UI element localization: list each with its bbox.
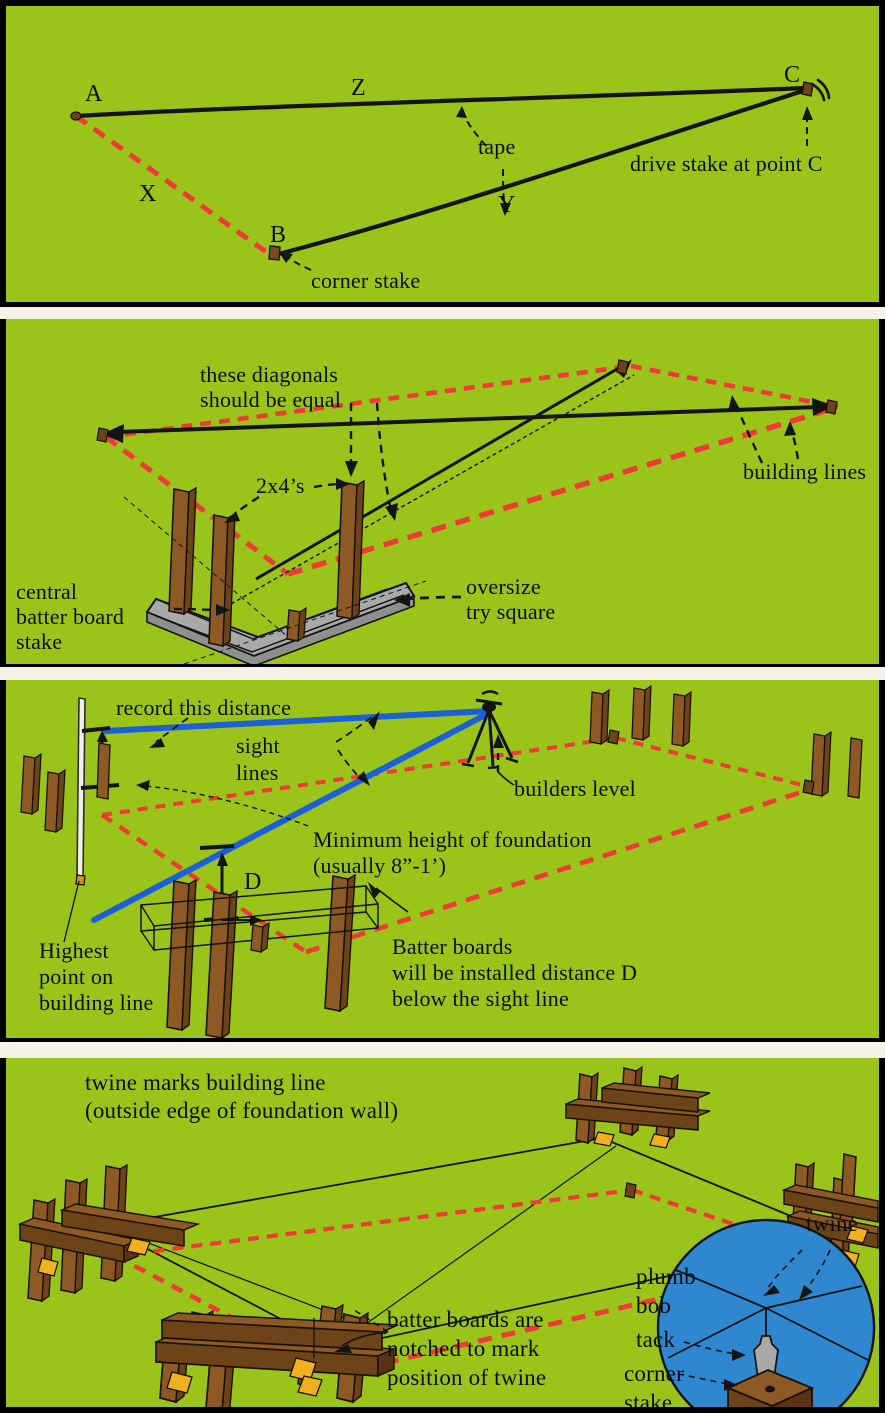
sight-line-lower: [94, 713, 489, 920]
d-tick-top: [200, 846, 234, 848]
panel-diagonals: these diagonals should be equal 2x4’s bu…: [6, 319, 879, 664]
building-line-rect-top: [106, 366, 631, 437]
label-try-square-line1: oversize: [466, 574, 541, 600]
leader-record-distance-arrow: [149, 738, 165, 748]
corner-stake-ne: [625, 1183, 636, 1198]
label-try-square-line2: try square: [466, 599, 555, 625]
leader-building-lines-1-arrow: [728, 395, 740, 411]
label-notched-line2: notched to mark: [387, 1335, 539, 1362]
leader-building-lines-1: [736, 405, 762, 463]
panel-2-artwork: [6, 319, 879, 664]
label-point-c: C: [784, 61, 800, 89]
label-batter-line1: Batter boards: [392, 934, 513, 960]
label-detail-corner-line1: corner: [624, 1360, 684, 1387]
label-notched-line1: batter boards are: [387, 1306, 544, 1333]
twine-line-top: [104, 1138, 602, 1226]
diagram-sheet: A B C X Y Z tape drive stake at point C …: [0, 0, 885, 1413]
label-central-line2: batter board: [16, 604, 124, 630]
label-diagonals-line2: should be equal: [200, 387, 341, 413]
label-highest-line2: point on: [39, 964, 113, 990]
corner-stake-right: [826, 400, 837, 414]
label-central-line1: central: [16, 579, 77, 605]
label-central-line3: stake: [16, 629, 62, 655]
batter-board-corner-bottom: [156, 1305, 398, 1407]
label-highest-line1: Highest: [39, 938, 109, 964]
leader-diagonals-2-arrow: [385, 503, 398, 521]
leader-building-lines-2-arrow: [784, 421, 796, 436]
label-tape: tape: [478, 134, 515, 160]
leader-diagonals-1-arrow: [345, 461, 358, 477]
two-by-four-post-1: [169, 488, 196, 614]
building-line-rect-bottom: [288, 407, 838, 574]
label-record-distance: record this distance: [116, 695, 291, 721]
highest-point-leader: [64, 881, 79, 942]
leader-batter-boards: [376, 888, 408, 912]
building-line-left-bottom: [102, 815, 306, 952]
label-diagonals-line1: these diagonals: [200, 362, 338, 388]
stake-a: [71, 112, 81, 120]
panel-gap-2: [0, 667, 885, 680]
leader-tape-up-arrow: [456, 106, 467, 118]
corner-stake-top: [617, 360, 628, 374]
panel-gap-3: [0, 1042, 885, 1058]
batter-board-corner-left: [20, 1165, 198, 1301]
leader-diagonals-2: [377, 403, 391, 511]
label-point-b: B: [270, 221, 286, 249]
label-side-x: X: [139, 180, 157, 208]
label-batter-line3: below the sight line: [392, 986, 569, 1012]
leader-drive-stake-arrow: [802, 106, 813, 120]
batter-board-corner-top: [566, 1067, 710, 1148]
label-highest-line3: building line: [39, 990, 153, 1016]
label-twine-marks-line1: twine marks building line: [85, 1069, 326, 1096]
label-detail-tack: tack: [636, 1326, 675, 1353]
label-detail-corner-line2: stake: [624, 1389, 672, 1407]
label-detail-plumb-line2: bob: [636, 1292, 671, 1319]
panel-twine: twine marks building line (outside edge …: [6, 1058, 879, 1407]
label-sight-line2: lines: [236, 760, 279, 786]
central-batter-board-stake: [287, 608, 306, 641]
detail-tack: [765, 1386, 775, 1393]
stake-c-motion-marks: [812, 80, 829, 100]
builders-level: [462, 692, 518, 769]
two-by-four-post-3: [337, 481, 364, 619]
label-distance-d: D: [244, 868, 262, 896]
label-building-lines: building lines: [743, 459, 866, 485]
panel-gap-1: [0, 307, 885, 319]
label-detail-plumb-line1: plumb: [636, 1263, 696, 1290]
label-min-height-line2: (usually 8”-1’): [313, 853, 446, 879]
label-point-a: A: [85, 80, 103, 108]
label-detail-twine: twine: [806, 1210, 858, 1237]
label-batter-line2: will be installed distance D: [392, 960, 637, 986]
two-by-four-post-2: [209, 514, 235, 646]
label-corner-stake: corner stake: [311, 268, 420, 294]
batter-board-assembly: [141, 875, 378, 1038]
label-sight-line1: sight: [236, 733, 280, 759]
label-min-height-line1: Minimum height of foundation: [313, 827, 592, 853]
leader-sight-lines-up-arrow: [368, 711, 380, 730]
label-side-y: Y: [498, 191, 516, 219]
highest-point-marker: [76, 875, 85, 885]
label-builders-level: builders level: [514, 776, 636, 802]
building-line-top-right: [616, 738, 814, 788]
panel-sight-lines: record this distance sight lines builder…: [6, 680, 879, 1038]
label-2x4s: 2x4’s: [256, 473, 305, 499]
leader-builders-level: [498, 772, 514, 785]
building-line-x: [76, 116, 269, 254]
corner-stake-left: [97, 428, 108, 442]
tape-line-z: [76, 88, 806, 116]
label-notched-line3: position of twine: [387, 1364, 546, 1391]
label-side-z: Z: [351, 74, 366, 102]
panel-triangulation: A B C X Y Z tape drive stake at point C …: [6, 6, 879, 302]
label-twine-marks-line2: (outside edge of foundation wall): [85, 1097, 398, 1124]
leader-corner-stake-arrow: [279, 252, 293, 263]
label-drive-stake-at-c: drive stake at point C: [630, 151, 823, 177]
leader-min-height-arrow: [136, 780, 150, 791]
